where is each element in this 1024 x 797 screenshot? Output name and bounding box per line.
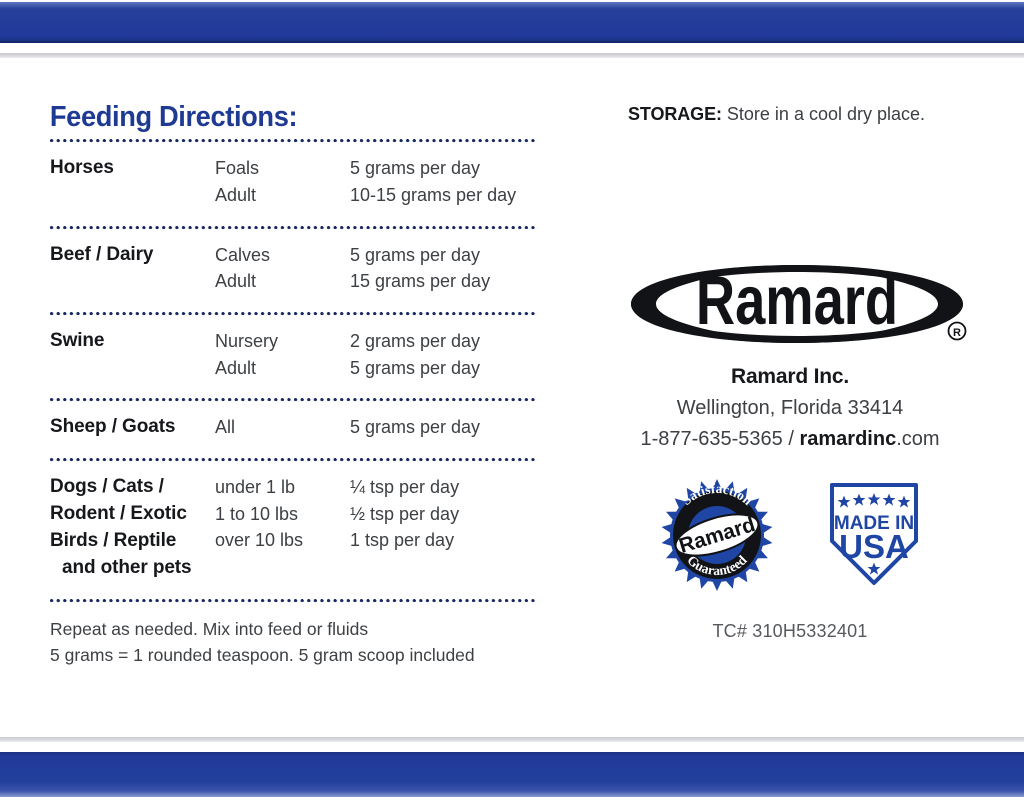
bottom-blue-band	[0, 752, 1024, 797]
amount-value: 5 grams per day	[350, 155, 548, 182]
animal-name: Sheep / Goats	[50, 416, 175, 437]
feeding-table: Horses Foals Adult 5 grams per day 10-15…	[48, 143, 548, 603]
cell-animal: Swine	[50, 328, 215, 355]
storage-label: STORAGE:	[628, 104, 722, 124]
stage-value: 1 to 10 lbs	[215, 501, 350, 528]
cell-amount: 5 grams per day	[350, 414, 548, 441]
cell-amount: 5 grams per day 10-15 grams per day	[350, 155, 548, 208]
animal-name: Rodent / Exotic	[50, 501, 215, 528]
label-content: Feeding Directions: Horses Foals Adult 5…	[0, 58, 1024, 737]
product-label-back-panel: Feeding Directions: Horses Foals Adult 5…	[0, 0, 1024, 797]
amount-value: 10-15 grams per day	[350, 182, 548, 209]
amount-value: 15 grams per day	[350, 268, 548, 295]
cell-stage: Calves Adult	[215, 242, 350, 295]
feeding-notes: Repeat as needed. Mix into feed or fluid…	[50, 616, 548, 669]
top-band-edge	[0, 41, 1024, 43]
stage-value: under 1 lb	[215, 474, 350, 501]
phone-number[interactable]: 1-877-635-5365	[640, 428, 782, 450]
animal-name-continued: and other pets	[50, 555, 215, 582]
company-address: Ramard Inc. Wellington, Florida 33414 1-…	[600, 361, 980, 455]
amount-value: ¼ tsp per day	[350, 474, 548, 501]
stage-value: Adult	[215, 268, 350, 295]
stage-value: Nursery	[215, 328, 350, 355]
animal-name: Horses	[50, 157, 114, 178]
usa-text: USA	[839, 528, 909, 565]
stage-value: Adult	[215, 355, 350, 382]
made-in-usa-badge: MADE IN USA	[824, 479, 924, 591]
amount-value: 2 grams per day	[350, 328, 548, 355]
stage-value: All	[215, 414, 350, 441]
stage-value: Calves	[215, 242, 350, 269]
amount-value: 5 grams per day	[350, 242, 548, 269]
animal-name: Beef / Dairy	[50, 244, 153, 265]
table-row: Horses Foals Adult 5 grams per day 10-15…	[48, 143, 548, 218]
company-contact: 1-877-635-5365 / ramardinc.com	[600, 424, 980, 455]
tc-code: TC# 310H5332401	[600, 621, 980, 642]
website-tld[interactable]: .com	[896, 428, 939, 450]
amount-value: 5 grams per day	[350, 414, 548, 441]
feeding-note-line: Repeat as needed. Mix into feed or fluid…	[50, 616, 548, 642]
feeding-directions-title: Feeding Directions:	[48, 58, 518, 132]
feeding-directions-column: Feeding Directions: Horses Foals Adult 5…	[48, 58, 548, 669]
cell-amount: 5 grams per day 15 grams per day	[350, 242, 548, 295]
company-location: Wellington, Florida 33414	[600, 393, 980, 424]
logo-wordmark: Ramard	[696, 264, 898, 340]
certification-badges: Satisfaction Guaranteed Ramard	[658, 479, 1000, 591]
table-row: Swine Nursery Adult 2 grams per day 5 gr…	[48, 316, 548, 391]
stage-value: Foals	[215, 155, 350, 182]
cell-stage: All	[215, 414, 350, 441]
table-row: Sheep / Goats All 5 grams per day	[48, 402, 548, 451]
cell-animal: Beef / Dairy	[50, 242, 215, 269]
cell-animal: Horses	[50, 155, 215, 182]
cell-animal: Dogs / Cats / Rodent / Exotic Birds / Re…	[50, 474, 215, 582]
feeding-note-line: 5 grams = 1 rounded teaspoon. 5 gram sco…	[50, 642, 548, 668]
cell-amount: ¼ tsp per day ½ tsp per day 1 tsp per da…	[350, 474, 548, 554]
stage-value: over 10 lbs	[215, 527, 350, 554]
storage-text: Store in a cool dry place.	[727, 104, 925, 124]
stage-value: Adult	[215, 182, 350, 209]
cell-animal: Sheep / Goats	[50, 414, 215, 441]
animal-name: Birds / Reptile	[50, 528, 215, 555]
amount-value: ½ tsp per day	[350, 501, 548, 528]
table-row: Beef / Dairy Calves Adult 5 grams per da…	[48, 230, 548, 305]
cell-amount: 2 grams per day 5 grams per day	[350, 328, 548, 381]
satisfaction-guaranteed-badge: Satisfaction Guaranteed Ramard	[658, 479, 776, 591]
animal-name: Dogs / Cats /	[50, 474, 215, 501]
cell-stage: Nursery Adult	[215, 328, 350, 381]
top-blue-band	[0, 2, 1024, 42]
table-row: Dogs / Cats / Rodent / Exotic Birds / Re…	[48, 462, 548, 592]
company-name: Ramard Inc.	[600, 361, 980, 393]
amount-value: 1 tsp per day	[350, 527, 548, 554]
amount-value: 5 grams per day	[350, 355, 548, 382]
animal-name: Swine	[50, 330, 104, 351]
dotted-rule-table-bottom	[50, 599, 538, 603]
cell-stage: Foals Adult	[215, 155, 350, 208]
cell-stage: under 1 lb 1 to 10 lbs over 10 lbs	[215, 474, 350, 554]
registered-trademark-icon: R	[949, 323, 966, 340]
website-name[interactable]: ramardinc	[799, 428, 896, 450]
svg-text:R: R	[953, 327, 961, 339]
storage-instructions: STORAGE: Store in a cool dry place.	[628, 103, 1000, 126]
contact-separator: /	[788, 428, 794, 450]
bottom-gray-rule	[0, 737, 1024, 742]
brand-column: STORAGE: Store in a cool dry place. Rama…	[600, 58, 1000, 642]
ramard-logo: Ramard R	[622, 261, 972, 347]
